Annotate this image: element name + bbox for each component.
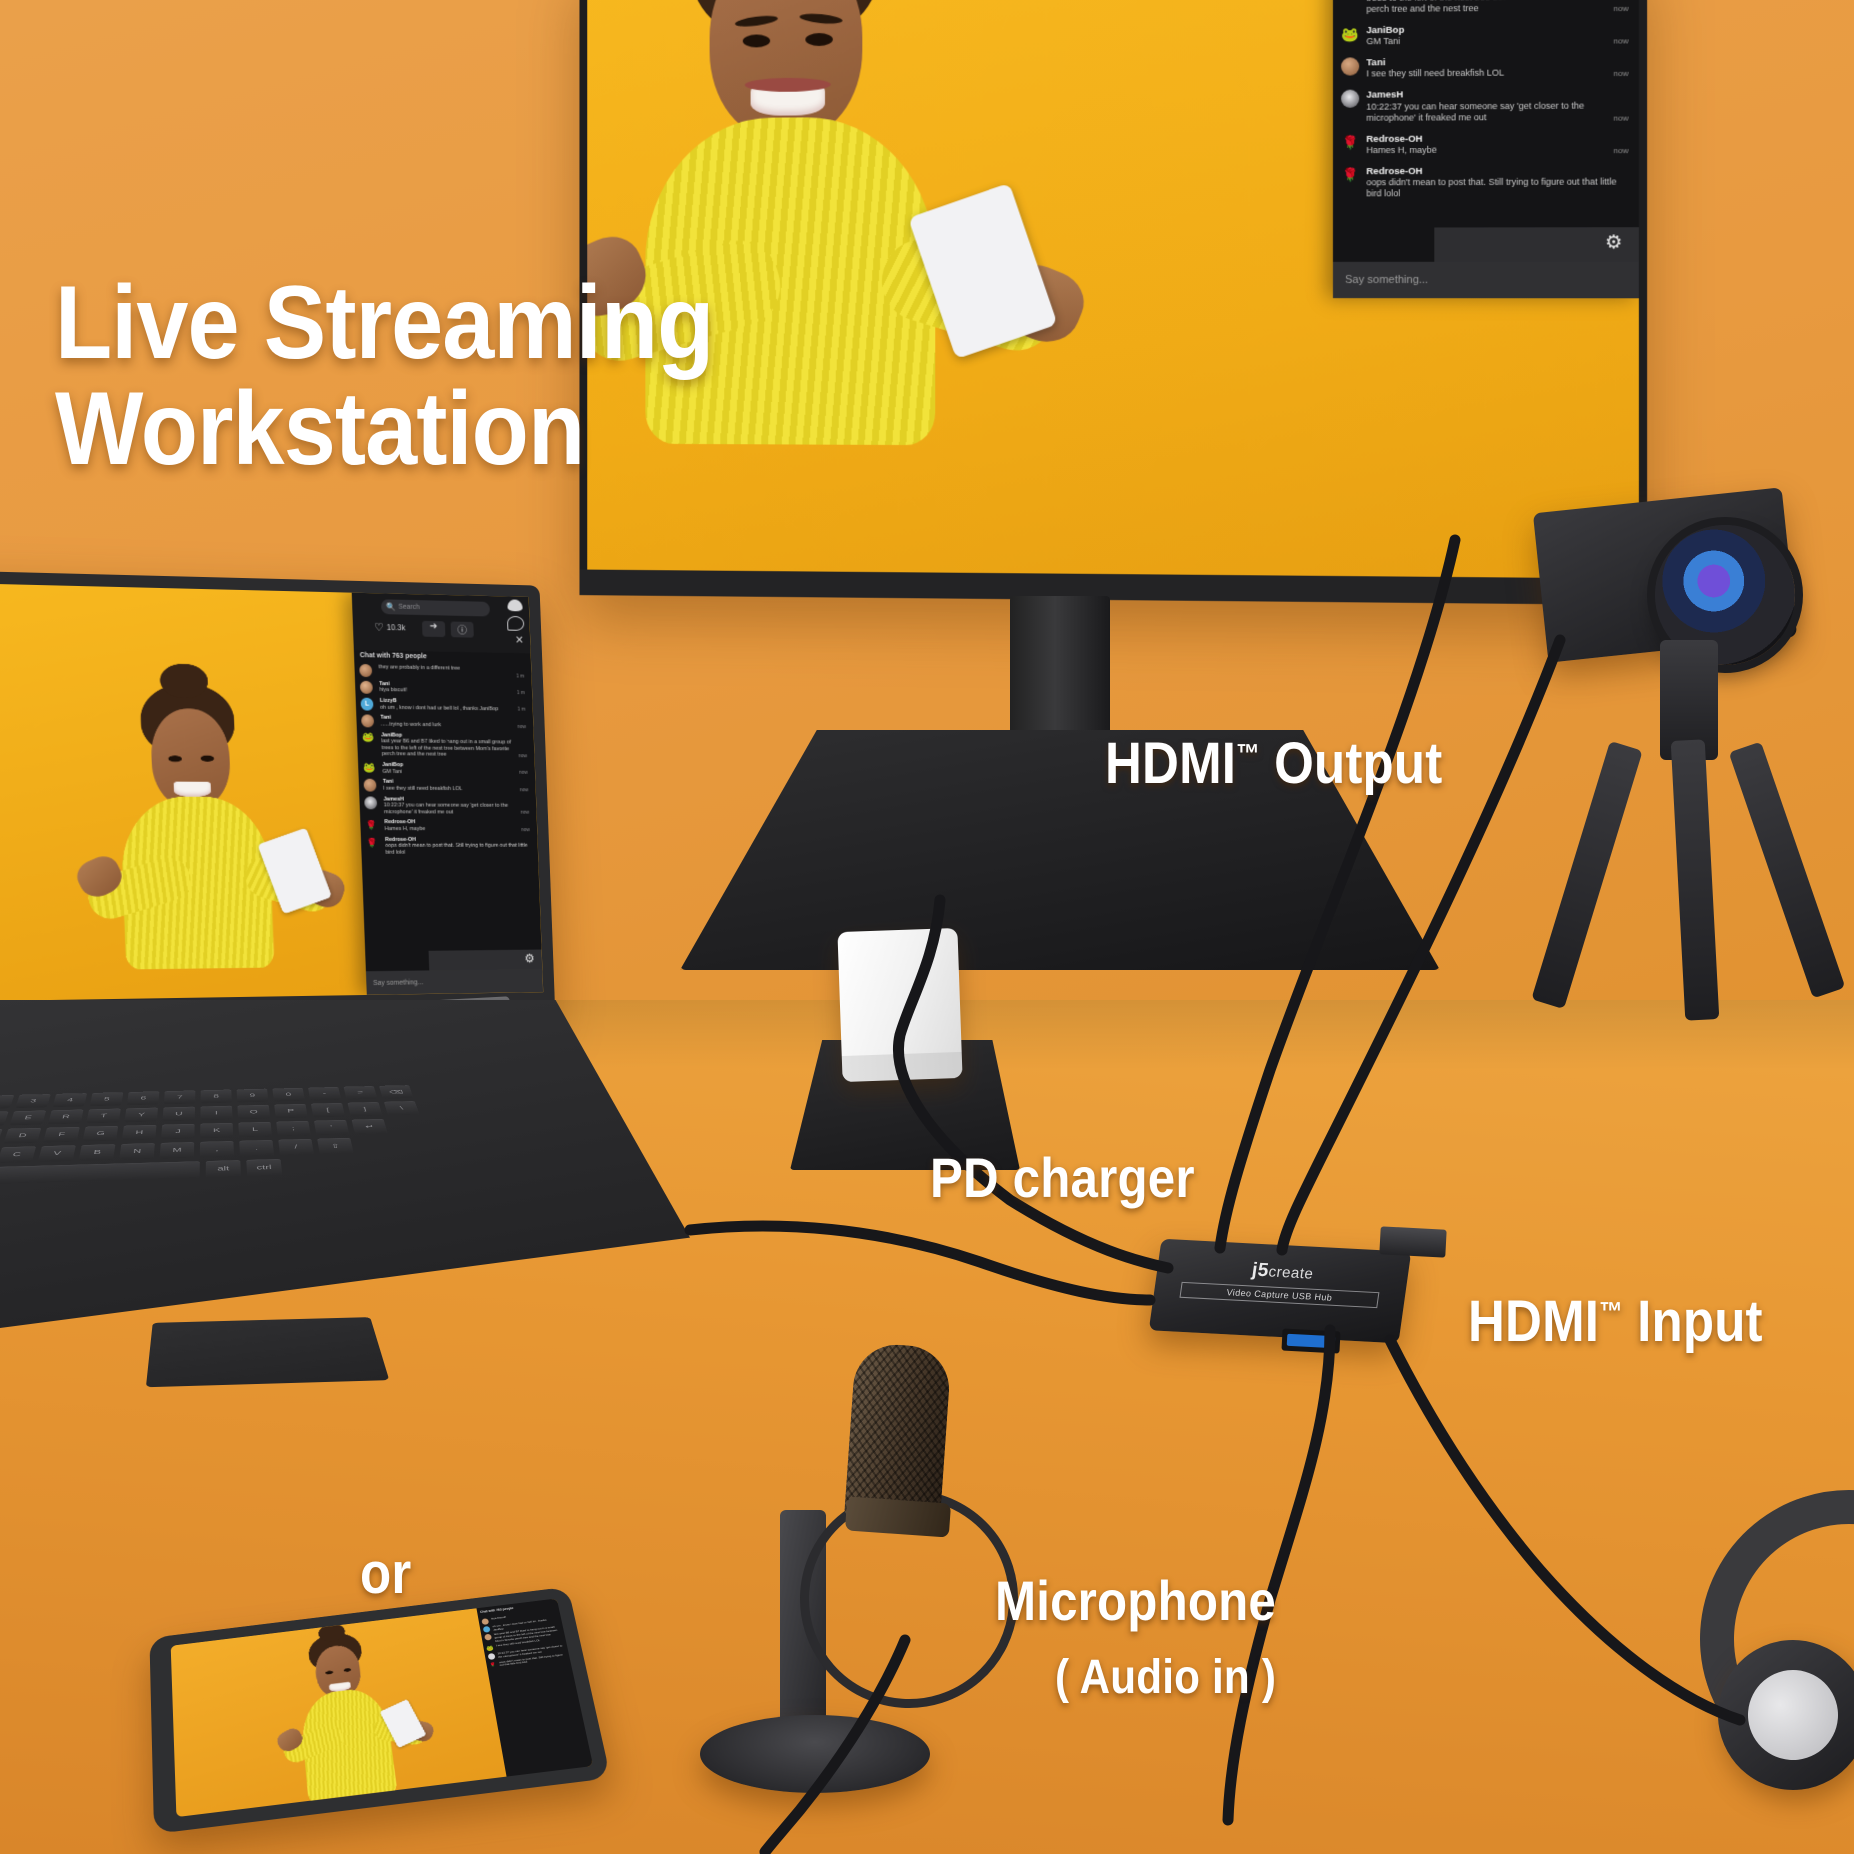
keyboard-key[interactable]: U bbox=[162, 1107, 195, 1122]
chat-message: 🌹 Redrose-OH Hames H, maybe now bbox=[1333, 127, 1639, 161]
keyboard-key[interactable]: ⇧ bbox=[317, 1138, 354, 1154]
keyboard-key[interactable]: E bbox=[10, 1110, 47, 1125]
chat-timestamp: now bbox=[1614, 113, 1629, 122]
chat-text: last year B6 and B7 liked to hang out in… bbox=[381, 738, 512, 759]
keyboard-key[interactable]: 7 bbox=[164, 1090, 196, 1104]
microphone-capsule bbox=[844, 1342, 952, 1523]
keyboard-key[interactable]: B bbox=[79, 1144, 116, 1161]
gear-icon[interactable]: ⚙ bbox=[1605, 233, 1623, 252]
frog-avatar-icon: 🐸 bbox=[362, 732, 375, 745]
keyboard-key[interactable]: \ bbox=[384, 1101, 420, 1115]
keyboard-key[interactable]: P bbox=[274, 1104, 307, 1119]
chat-text: they are probably in a different tree bbox=[379, 664, 510, 673]
video-capture-usb-hub: j5create Video Capture USB Hub bbox=[1149, 1239, 1412, 1344]
hdmi-output-text: HDMI bbox=[1105, 731, 1236, 796]
keyboard-key[interactable]: 5 bbox=[90, 1092, 123, 1106]
chat-text: I see they still need breakfish LOL bbox=[383, 786, 513, 793]
keyboard-key[interactable]: Y bbox=[124, 1108, 158, 1123]
hdmi-input-suffix: Input bbox=[1623, 1289, 1763, 1354]
chat-timestamp: now bbox=[520, 787, 529, 793]
frog-avatar-icon: 🐸 bbox=[363, 762, 376, 775]
chat-timestamp: now bbox=[1614, 69, 1629, 78]
chat-text: oops didn't mean to post that. Still try… bbox=[1366, 176, 1628, 199]
like-count: 10.3k bbox=[386, 623, 405, 632]
keyboard-key[interactable]: 6 bbox=[127, 1091, 160, 1105]
close-icon[interactable]: ✕ bbox=[515, 636, 524, 647]
label-microphone-sub: ( Audio in ) bbox=[1055, 1650, 1276, 1705]
chat-timestamp: now bbox=[521, 827, 530, 833]
avatar bbox=[361, 715, 374, 728]
label-hdmi-input: HDMI™ Input bbox=[1468, 1288, 1763, 1355]
laptop-stream-toolbar[interactable]: 🔍 Search ♡ 10.3k ➜ ⓘ ✕ bbox=[352, 593, 531, 654]
avatar bbox=[1341, 58, 1359, 76]
avatar bbox=[1341, 90, 1359, 108]
rose-avatar-icon: 🌹 bbox=[365, 820, 378, 833]
chat-timestamp: now bbox=[518, 753, 527, 759]
chat-message: L LizzyB oh um , know i dont had ur bell… bbox=[356, 696, 533, 715]
keyboard-key[interactable]: 0 bbox=[272, 1088, 304, 1102]
keyboard-key[interactable]: N bbox=[119, 1143, 155, 1160]
heart-icon[interactable]: ♡ bbox=[374, 621, 384, 634]
phone-video-area bbox=[171, 1608, 507, 1817]
chat-author: Redrose-OH bbox=[1366, 132, 1606, 144]
keyboard-key[interactable]: ⌫ bbox=[379, 1085, 414, 1099]
keyboard-key[interactable]: V bbox=[38, 1145, 76, 1162]
trademark-symbol: ™ bbox=[1236, 739, 1260, 769]
keyboard-key[interactable]: ↵ bbox=[352, 1119, 388, 1134]
avatar bbox=[483, 1626, 491, 1633]
keyboard-key[interactable]: ctrl bbox=[246, 1159, 282, 1177]
chat-message: JamesH 10:22:37 you can hear someone say… bbox=[359, 794, 537, 818]
chat-text: Hames H, maybe bbox=[1366, 144, 1606, 156]
hdmi-output-suffix: Output bbox=[1260, 731, 1443, 796]
keyboard-key[interactable]: 9 bbox=[237, 1089, 269, 1103]
chat-timestamp: now bbox=[1614, 4, 1629, 13]
camera-tripod bbox=[1560, 640, 1854, 1040]
chat-message: 🌹 Redrose-OH oops didn't mean to post th… bbox=[1333, 160, 1639, 204]
monitor-screen: 🐸 JaniBop last year B6 and B7 liked to h… bbox=[587, 0, 1639, 579]
trademark-symbol: ™ bbox=[1599, 1297, 1623, 1327]
monitor-chat-settings-bar[interactable]: ⚙ bbox=[1434, 227, 1639, 262]
label-or: or bbox=[360, 1540, 411, 1607]
chat-message: Tani I see they still need breakfish LOL… bbox=[1333, 51, 1639, 85]
chat-message: Tani I see they still need breakfish LOL… bbox=[359, 777, 536, 795]
rose-avatar-icon: 🌹 bbox=[1341, 134, 1359, 152]
product-marketing-image: 🐸 JaniBop last year B6 and B7 liked to h… bbox=[0, 0, 1854, 1854]
keyboard-key[interactable] bbox=[0, 1161, 200, 1185]
keyboard-key[interactable]: 2 bbox=[0, 1095, 14, 1109]
composer-placeholder: Say something... bbox=[1333, 274, 1428, 286]
keyboard-key[interactable]: / bbox=[278, 1139, 314, 1155]
keyboard-key[interactable]: = bbox=[344, 1086, 378, 1100]
keyboard-key[interactable]: T bbox=[86, 1109, 121, 1124]
label-microphone: Microphone bbox=[995, 1568, 1276, 1633]
search-icon: 🔍 bbox=[386, 602, 396, 611]
keyboard-key[interactable]: W bbox=[0, 1111, 9, 1126]
keyboard-key[interactable]: alt bbox=[206, 1160, 241, 1178]
chat-author: Redrose-OH bbox=[1366, 165, 1628, 177]
keyboard-key[interactable]: [ bbox=[311, 1103, 345, 1117]
phone-chat-header: Chat with 763 people bbox=[480, 1606, 514, 1613]
label-hdmi-output: HDMI™ Output bbox=[1105, 730, 1442, 797]
chat-text: oops didn't mean to post that. Still try… bbox=[385, 843, 531, 856]
like-button[interactable]: ♡ 10.3k bbox=[374, 621, 406, 634]
chat-timestamp: now bbox=[517, 724, 526, 730]
chat-message: 🐸 JaniBop last year B6 and B7 liked to h… bbox=[357, 730, 535, 762]
laptop-chat-composer[interactable]: Say something... bbox=[366, 969, 543, 995]
monitor-chat-panel[interactable]: 🐸 JaniBop last year B6 and B7 liked to h… bbox=[1333, 0, 1639, 298]
avatar bbox=[488, 1653, 496, 1660]
info-button[interactable]: ⓘ bbox=[451, 622, 474, 638]
keyboard-key[interactable]: G bbox=[83, 1126, 119, 1142]
keyboard-key[interactable]: . bbox=[239, 1140, 274, 1156]
composer-placeholder: Say something... bbox=[366, 979, 423, 987]
keyboard-key[interactable]: H bbox=[122, 1125, 157, 1141]
keyboard-key[interactable]: 3 bbox=[15, 1094, 50, 1108]
frog-avatar-icon: 🐸 bbox=[1341, 25, 1359, 43]
chat-message: 🐸 JaniBop GM Tani now bbox=[358, 760, 535, 778]
avatar bbox=[360, 681, 373, 694]
chat-text: I see they still need breakfish LOL bbox=[1366, 67, 1606, 80]
chat-message: 🐸 JaniBop GM Tani now bbox=[1333, 18, 1639, 53]
hdmi-port bbox=[1379, 1226, 1446, 1257]
page-title: Live Streaming Workstation bbox=[55, 270, 713, 482]
chat-timestamp: 1 m bbox=[516, 674, 524, 680]
external-monitor: 🐸 JaniBop last year B6 and B7 liked to h… bbox=[579, 0, 1647, 605]
chat-message: 🌹 Redrose-OH Hames H, maybe now bbox=[360, 818, 537, 835]
chat-message: 🐸 JaniBop last year B6 and B7 liked to h… bbox=[1333, 0, 1639, 20]
chat-message: JamesH 10:22:37 you can hear someone say… bbox=[1333, 83, 1639, 128]
comment-bubble-icon[interactable] bbox=[507, 616, 524, 631]
keyboard-key[interactable]: , bbox=[200, 1141, 234, 1158]
chat-timestamp: now bbox=[1614, 37, 1629, 46]
chat-text: GM Tani bbox=[382, 769, 512, 776]
laptop-chat-header: Chat with 763 people bbox=[360, 652, 427, 660]
keyboard-key[interactable]: L bbox=[238, 1122, 272, 1137]
chat-text: 10:22:37 you can hear someone say 'get c… bbox=[1366, 100, 1606, 123]
chat-text: 10:22:37 you can hear someone say 'get c… bbox=[384, 802, 514, 815]
keyboard-key[interactable]: K bbox=[200, 1123, 233, 1139]
keyboard-key[interactable]: ] bbox=[347, 1102, 382, 1116]
title-line-1: Live Streaming bbox=[55, 270, 713, 376]
keyboard-key[interactable]: F bbox=[43, 1127, 80, 1143]
keyboard-key[interactable]: J bbox=[161, 1124, 195, 1140]
phone-screen: Chat with 763 people hiya biscuit! oh um… bbox=[171, 1598, 594, 1817]
chat-timestamp: 1 m bbox=[517, 707, 525, 713]
title-line-2: Workstation bbox=[55, 376, 713, 482]
search-placeholder: Search bbox=[398, 604, 420, 611]
chat-text: hiya biscuit! bbox=[379, 688, 510, 696]
label-pd-charger: PD charger bbox=[930, 1145, 1195, 1210]
chat-timestamp: 1 m bbox=[517, 690, 525, 696]
laptop-chat-list[interactable]: they are probably in a different tree 1 … bbox=[354, 662, 542, 971]
microphone-base bbox=[700, 1715, 930, 1793]
chat-text: last year B6 and B7 liked to hang out in… bbox=[1366, 0, 1606, 15]
chat-text: ......trying to work and lurk bbox=[381, 721, 511, 729]
chat-text: oh um , know i dont had ur bell lol , th… bbox=[380, 704, 511, 712]
chat-timestamp: now bbox=[1614, 146, 1629, 155]
avatar bbox=[481, 1618, 489, 1625]
avatar bbox=[364, 796, 377, 809]
keyboard-key[interactable]: 4 bbox=[53, 1093, 87, 1107]
frog-avatar-icon: 🐸 bbox=[486, 1645, 494, 1652]
laptop-screen: 🔍 Search ♡ 10.3k ➜ ⓘ ✕ Chat with 763 peo… bbox=[0, 583, 543, 1002]
search-input[interactable]: 🔍 Search bbox=[381, 599, 490, 616]
rose-avatar-icon: 🌹 bbox=[1341, 166, 1359, 184]
microphone-ring bbox=[845, 1496, 951, 1537]
chat-timestamp: now bbox=[519, 770, 528, 776]
pd-charger-brick bbox=[837, 928, 962, 1082]
chat-message: 🌹 Redrose-OH oops didn't mean to post th… bbox=[361, 835, 539, 859]
keyboard-key[interactable]: C bbox=[0, 1146, 36, 1163]
rose-avatar-icon: 🌹 bbox=[366, 837, 379, 850]
monitor-chat-list[interactable]: 🐸 JaniBop last year B6 and B7 liked to h… bbox=[1333, 0, 1639, 262]
keyboard-key[interactable]: I bbox=[200, 1106, 232, 1121]
chat-text: Hames H, maybe bbox=[385, 826, 515, 833]
laptop-trackpad[interactable] bbox=[146, 1317, 389, 1387]
laptop-keyboard[interactable]: ~1234567890-=⌫ ⇥QWERTYUIOP[]\ ⇪ASDFGHJKL… bbox=[0, 1080, 722, 1254]
chat-message: Tani ......trying to work and lurk now bbox=[356, 713, 533, 732]
usb-a-port bbox=[1281, 1328, 1340, 1353]
keyboard-key[interactable]: - bbox=[308, 1087, 341, 1101]
chat-text: GM Tani bbox=[1366, 35, 1606, 48]
avatar: L bbox=[360, 698, 373, 711]
keyboard-key[interactable]: O bbox=[237, 1105, 270, 1120]
laptop-lid: 🔍 Search ♡ 10.3k ➜ ⓘ ✕ Chat with 763 peo… bbox=[0, 570, 555, 1029]
monitor-chat-composer[interactable]: Say something... bbox=[1333, 262, 1639, 299]
keyboard-key[interactable]: R bbox=[48, 1110, 84, 1125]
avatar bbox=[359, 664, 372, 677]
gear-icon[interactable]: ⚙ bbox=[524, 952, 534, 964]
laptop-chat-settings-bar[interactable]: ⚙ bbox=[429, 949, 543, 970]
keyboard-key[interactable]: D bbox=[3, 1128, 41, 1144]
avatar bbox=[484, 1634, 492, 1641]
share-button[interactable]: ➜ bbox=[422, 621, 445, 637]
keyboard-key[interactable]: S bbox=[0, 1129, 3, 1145]
keyboard-key[interactable]: 8 bbox=[201, 1090, 232, 1104]
chat-timestamp: now bbox=[520, 810, 529, 816]
hdmi-input-text: HDMI bbox=[1468, 1289, 1599, 1354]
keyboard-key[interactable]: M bbox=[160, 1142, 195, 1159]
avatar bbox=[364, 779, 377, 792]
keyboard-key[interactable]: ' bbox=[314, 1120, 349, 1135]
brand-create: create bbox=[1267, 1263, 1314, 1282]
rose-avatar-icon: 🌹 bbox=[489, 1661, 497, 1668]
keyboard-key[interactable]: ; bbox=[276, 1121, 311, 1136]
laptop-chat-panel[interactable]: 🔍 Search ♡ 10.3k ➜ ⓘ ✕ Chat with 763 peo… bbox=[352, 593, 544, 995]
platform-logo-icon bbox=[507, 599, 522, 611]
